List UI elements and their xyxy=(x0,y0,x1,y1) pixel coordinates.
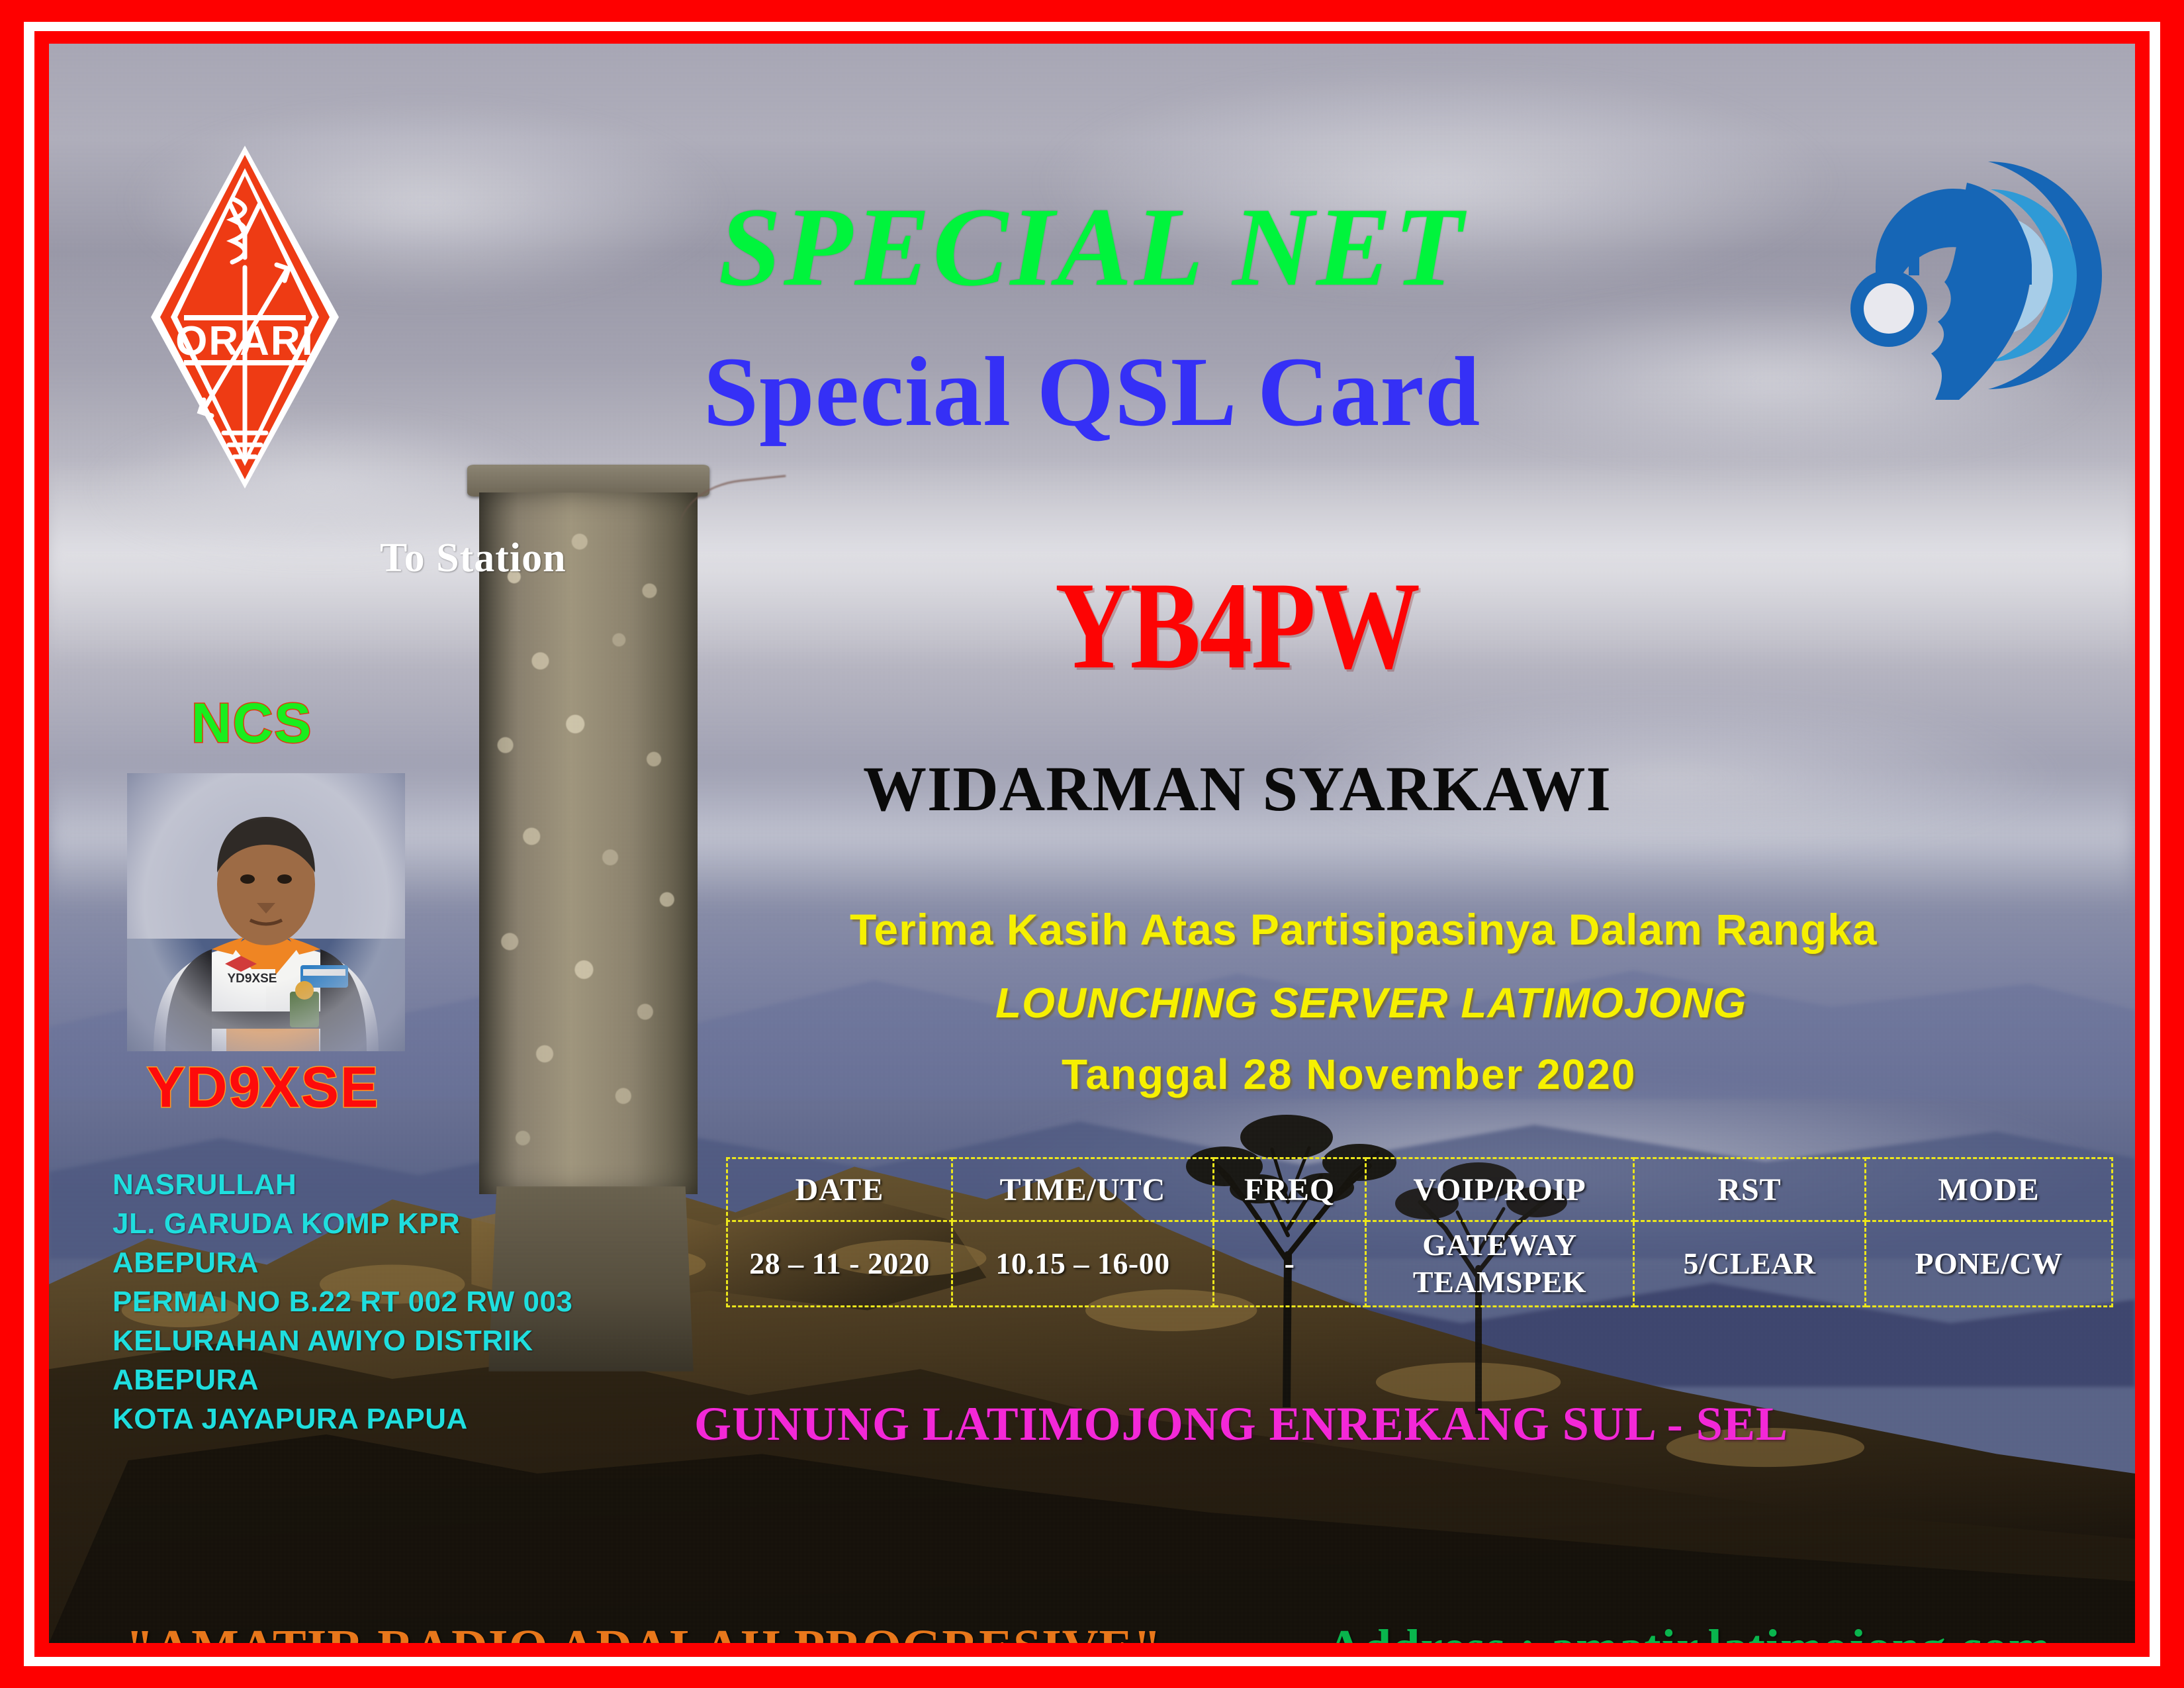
cell-voip: GATEWAY TEAMSPEK xyxy=(1366,1221,1634,1307)
address-line: ABEPURA xyxy=(113,1243,572,1282)
qso-table: DATE TIME/UTC FREQ VOIP/ROIP RST MODE 28… xyxy=(726,1157,2113,1307)
cell-rst: 5/CLEAR xyxy=(1634,1221,1866,1307)
thanks-line-1: Terima Kasih Atas Partisipasinya Dalam R… xyxy=(850,904,1878,955)
table-header-row: DATE TIME/UTC FREQ VOIP/ROIP RST MODE xyxy=(727,1158,2113,1221)
card-photo-area: ORARI xyxy=(49,44,2135,1643)
operator-name: WIDARMAN SYARKAWI xyxy=(863,752,1612,825)
table-row: 28 – 11 - 2020 10.15 – 16-00 - GATEWAY T… xyxy=(727,1221,2113,1307)
table-header-mode: MODE xyxy=(1866,1158,2113,1221)
page-subtitle: Special QSL Card xyxy=(49,335,2135,449)
pillar-shaft xyxy=(479,492,698,1194)
ncs-callsign: YD9XSE xyxy=(147,1055,379,1121)
address-line: NASRULLAH xyxy=(113,1165,572,1204)
location-label: GUNUNG LATIMOJONG ENREKANG SUL - SEL xyxy=(694,1397,1788,1452)
footer-web-address: Address : amatir.latimojong.com xyxy=(1326,1619,2051,1643)
cell-freq: - xyxy=(1214,1221,1366,1307)
ncs-label: NCS xyxy=(191,691,312,755)
address-line: ABEPURA xyxy=(113,1360,572,1399)
cell-voip-line2: TEAMSPEK xyxy=(1413,1265,1586,1299)
address-line: JL. GARUDA KOMP KPR xyxy=(113,1204,572,1243)
page-title: SPECIAL NET xyxy=(49,183,2135,312)
address-line: PERMAI NO B.22 RT 002 RW 003 xyxy=(113,1282,572,1321)
station-callsign: YB4PW xyxy=(1055,553,1419,698)
address-line: KOTA JAYAPURA PAPUA xyxy=(113,1399,572,1438)
thanks-line-2: LOUNCHING SERVER LATIMOJONG xyxy=(995,978,1747,1027)
cell-mode: PONE/CW xyxy=(1866,1221,2113,1307)
table-header-rst: RST xyxy=(1634,1158,1866,1221)
table-header-date: DATE xyxy=(727,1158,952,1221)
cell-voip-line1: GATEWAY xyxy=(1422,1228,1577,1262)
photo-vignette xyxy=(127,773,405,1051)
cell-date: 28 – 11 - 2020 xyxy=(727,1221,952,1307)
cell-time: 10.15 – 16-00 xyxy=(952,1221,1214,1307)
footer-motto: "AMATIR RADIO ADALAH PROGRESIVE" xyxy=(126,1619,1161,1643)
table-header-time: TIME/UTC xyxy=(952,1158,1214,1221)
ncs-operator-photo: YD9XSE xyxy=(127,773,405,1051)
pillar-cap xyxy=(467,465,709,496)
return-address-block: NASRULLAH JL. GARUDA KOMP KPR ABEPURA PE… xyxy=(113,1165,572,1438)
address-line: KELURAHAN AWIYO DISTRIK xyxy=(113,1321,572,1360)
qsl-card: ORARI xyxy=(0,0,2184,1688)
thanks-line-3: Tanggal 28 November 2020 xyxy=(1062,1050,1637,1099)
to-station-label: To Station xyxy=(380,535,567,582)
table-header-voip: VOIP/ROIP xyxy=(1366,1158,1634,1221)
table-header-freq: FREQ xyxy=(1214,1158,1366,1221)
